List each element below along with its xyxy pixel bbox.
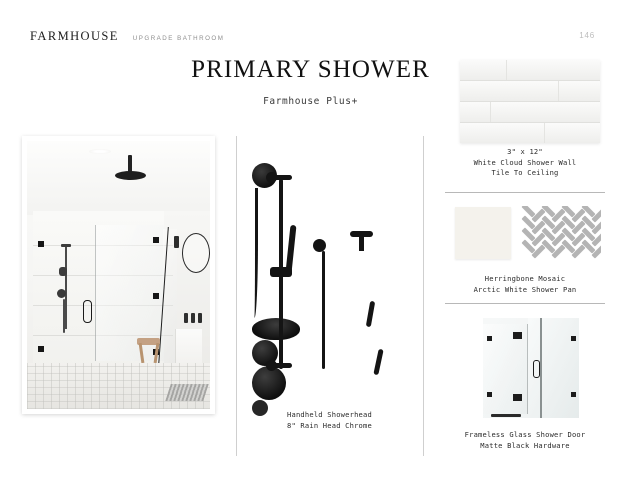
glass-clip xyxy=(38,346,44,352)
hose-elbow xyxy=(313,239,326,252)
slide-bar-knob xyxy=(266,360,277,371)
tile-row xyxy=(460,102,600,123)
handheld-showerhead-icon xyxy=(59,267,67,276)
valve-handle xyxy=(366,301,375,327)
mosaic-chip xyxy=(551,244,565,258)
paint-color-swatch[interactable] xyxy=(455,207,511,259)
slide-bar-knob xyxy=(266,172,277,183)
glass-base-track xyxy=(491,414,521,417)
tile-seam xyxy=(506,60,507,80)
glass-hinge xyxy=(513,332,522,339)
tile-seam xyxy=(558,81,559,101)
glass-corner-post xyxy=(540,318,542,418)
glass-clip xyxy=(571,336,576,341)
tile-row xyxy=(460,60,600,81)
wall-tile-sample[interactable] xyxy=(460,60,600,143)
caption-line: Tile To Ceiling xyxy=(435,168,615,179)
tile-row xyxy=(460,123,600,143)
caption-line: 8" Rain Head Chrome xyxy=(236,421,423,432)
glass-clip xyxy=(571,392,576,397)
divider-sample-1-2 xyxy=(445,192,605,193)
slide-bar xyxy=(65,247,67,329)
shower-room-photo-image xyxy=(27,141,210,409)
caption-line: 3" x 12" xyxy=(435,147,615,158)
shower-hose xyxy=(322,251,325,369)
glass-clip xyxy=(38,241,44,247)
brand-header: FARMHOUSE UPGRADE BATHROOM xyxy=(30,29,224,44)
shower-valve xyxy=(57,289,66,298)
glass-hinge xyxy=(513,394,522,401)
toiletry-bottle xyxy=(198,313,202,323)
glass-door-sample[interactable] xyxy=(483,318,579,418)
divider-sample-2-3 xyxy=(445,303,605,304)
section-label: UPGRADE BATHROOM xyxy=(133,35,225,42)
bath-mat xyxy=(165,384,209,401)
brand-name: FARMHOUSE xyxy=(30,29,119,44)
caption-line: Matte Black Hardware xyxy=(435,441,615,452)
glass-clip xyxy=(487,336,492,341)
handheld-grip xyxy=(286,225,297,273)
toiletry-bottle xyxy=(184,313,188,323)
mosaic-pan-caption: Herringbone Mosaic Arctic White Shower P… xyxy=(435,274,615,295)
tile-row xyxy=(460,81,600,102)
rain-showerhead-icon xyxy=(252,318,300,340)
glass-clip xyxy=(153,237,159,243)
divider-center-right xyxy=(423,136,424,456)
wall-sconce xyxy=(174,236,179,248)
mosaic-chip xyxy=(571,244,585,258)
mosaic-chip xyxy=(531,244,545,258)
valve-handle xyxy=(373,349,383,375)
shower-hose xyxy=(252,188,258,318)
tile-seam xyxy=(544,123,545,143)
caption-line: Arctic White Shower Pan xyxy=(435,285,615,296)
caption-line: White Cloud Shower Wall xyxy=(435,158,615,169)
shower-door-handle xyxy=(83,300,92,323)
tile-seam xyxy=(490,102,491,122)
mood-board-page: FARMHOUSE UPGRADE BATHROOM 146 PRIMARY S… xyxy=(0,0,621,480)
rain-shower-arm xyxy=(359,235,364,251)
mosaic-pan-sample[interactable] xyxy=(519,206,601,260)
shower-tub-valve-trim xyxy=(252,366,286,400)
shower-door-handle xyxy=(533,360,540,378)
shower-fixtures-photo[interactable] xyxy=(252,163,410,395)
divider-left-center xyxy=(236,136,237,456)
recessed-light xyxy=(89,149,111,154)
glass-door-caption: Frameless Glass Shower Door Matte Black … xyxy=(435,430,615,451)
ceiling-shower-arm xyxy=(128,155,132,172)
page-number: 146 xyxy=(579,31,595,40)
rain-showerhead-icon xyxy=(115,171,146,180)
caption-line: Handheld Showerhead xyxy=(236,410,423,421)
shower-hose xyxy=(63,299,65,333)
wall-tile-caption: 3" x 12" White Cloud Shower Wall Tile To… xyxy=(435,147,615,179)
round-mirror xyxy=(182,233,210,273)
toiletry-bottle xyxy=(191,313,195,323)
shower-room-photo[interactable] xyxy=(22,136,215,414)
caption-line: Herringbone Mosaic xyxy=(435,274,615,285)
caption-line: Frameless Glass Shower Door xyxy=(435,430,615,441)
fixtures-caption: Handheld Showerhead 8" Rain Head Chrome xyxy=(236,410,423,431)
glass-clip xyxy=(487,392,492,397)
glass-clip xyxy=(153,293,159,299)
